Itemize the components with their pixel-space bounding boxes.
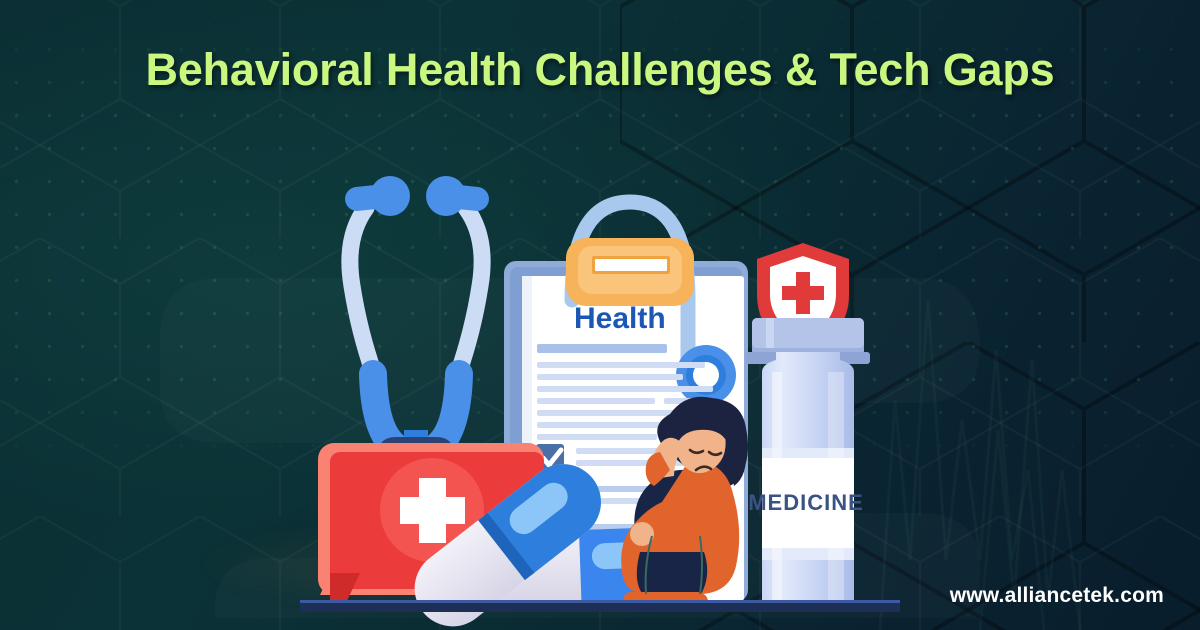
site-url[interactable]: www.alliancetek.com: [950, 584, 1164, 608]
behavioral-health-illustration: Health: [0, 0, 1200, 630]
clipboard-heading: Health: [574, 302, 666, 335]
ground-shelf-line: [300, 600, 900, 612]
banner-root: Behavioral Health Challenges & Tech Gaps: [0, 0, 1200, 630]
orange-clip: [566, 238, 694, 306]
bottle-label-text: MEDICINE: [748, 490, 864, 515]
medicine-bottle: MEDICINE: [746, 318, 870, 602]
